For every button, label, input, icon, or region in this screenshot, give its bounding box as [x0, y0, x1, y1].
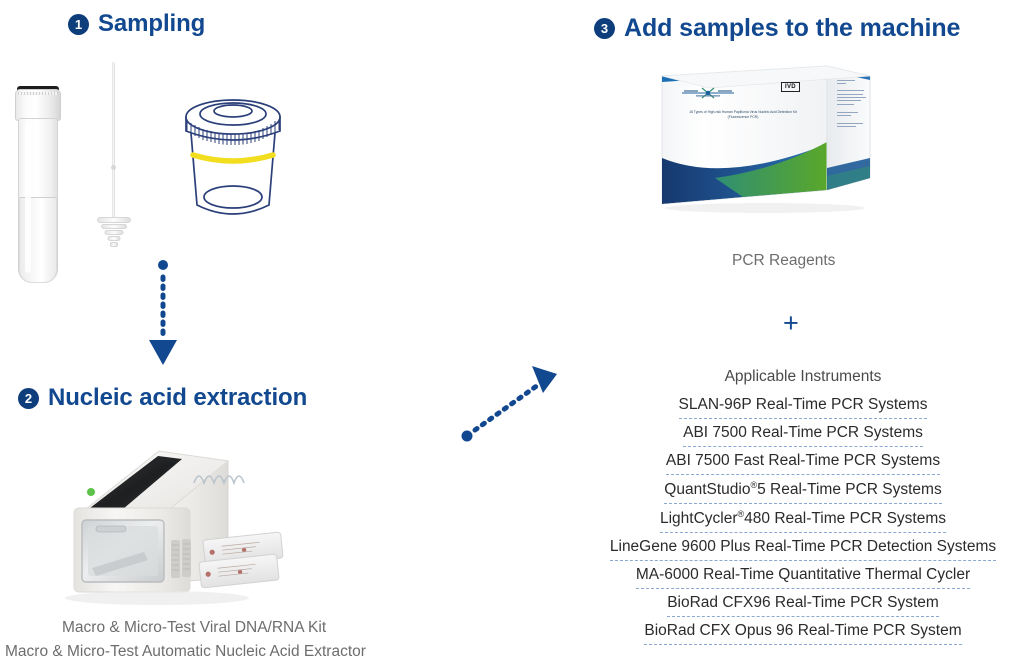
- step-2-title: Nucleic acid extraction: [48, 384, 307, 412]
- instrument-label: LineGene 9600 Plus Real-Time PCR Detecti…: [610, 538, 996, 561]
- step-3-title: Add samples to the machine: [624, 14, 960, 43]
- kit-caption: Macro & Micro-Test Viral DNA/RNA Kit: [62, 619, 326, 637]
- box-side-panel-text: [837, 80, 867, 130]
- plus-icon: +: [783, 310, 799, 337]
- pcr-reagents-caption: PCR Reagents: [732, 252, 835, 270]
- nucleic-acid-extractor-image: [52, 428, 292, 613]
- instrument-row: SLAN-96P Real-Time PCR Systems: [601, 396, 1005, 419]
- instrument-label: BioRad CFX Opus 96 Real-Time PCR System: [644, 622, 961, 645]
- swab-brush-head: [96, 217, 132, 252]
- step-2-heading: 2 Nucleic acid extraction: [18, 384, 307, 412]
- sampling-illustration: [0, 62, 300, 262]
- sampling-swab: [96, 62, 132, 252]
- swab-breakpoint: [111, 165, 116, 170]
- instrument-label: MA-6000 Real-Time Quantitative Thermal C…: [636, 566, 970, 589]
- urine-collection-cup: [178, 87, 288, 232]
- tube-highlight: [25, 123, 31, 273]
- step-1-title: Sampling: [98, 10, 205, 38]
- kit-product-title: 18 Types of High-risk Human Papilloma Vi…: [678, 110, 808, 121]
- swab-shaft: [112, 62, 115, 222]
- instrument-label: ABI 7500 Real-Time PCR Systems: [683, 424, 923, 447]
- step-3-heading: 3 Add samples to the machine: [594, 14, 960, 43]
- instrument-row: LightCycler®480 Real-Time PCR Systems: [601, 509, 1005, 533]
- instrument-label: LightCycler®480 Real-Time PCR Systems: [660, 509, 946, 533]
- arrow-extraction-to-machine: [458, 362, 568, 452]
- tube-cap: [15, 89, 61, 121]
- extractor-caption: Macro & Micro-Test Automatic Nucleic Aci…: [5, 643, 366, 661]
- instrument-label: QuantStudio®5 Real-Time PCR Systems: [664, 480, 941, 504]
- ivd-badge: IVD: [781, 82, 800, 92]
- collection-tube: [14, 89, 62, 289]
- instrument-row: LineGene 9600 Plus Real-Time PCR Detecti…: [601, 538, 1005, 561]
- instrument-row: ABI 7500 Real-Time PCR Systems: [601, 424, 1005, 447]
- instrument-row: MA-6000 Real-Time Quantitative Thermal C…: [601, 566, 1005, 589]
- instrument-row: BioRad CFX Opus 96 Real-Time PCR System: [601, 622, 1005, 645]
- brand-logo-icon: [680, 86, 736, 99]
- instrument-row: QuantStudio®5 Real-Time PCR Systems: [601, 480, 1005, 504]
- arrow-sampling-to-extraction: [140, 258, 186, 373]
- instrument-label: ABI 7500 Fast Real-Time PCR Systems: [666, 452, 940, 475]
- step-1-badge: 1: [68, 14, 89, 35]
- instrument-row: BioRad CFX96 Real-Time PCR System: [601, 594, 1005, 617]
- step-2-badge: 2: [18, 388, 39, 409]
- applicable-instruments-title: Applicable Instruments: [601, 368, 1005, 386]
- pcr-reagent-kit-box: IVD 18 Types of High-risk Human Papillom…: [655, 58, 905, 213]
- applicable-instruments-list: Applicable Instruments SLAN-96P Real-Tim…: [601, 368, 1005, 650]
- instrument-label: BioRad CFX96 Real-Time PCR System: [667, 594, 939, 617]
- instrument-label: SLAN-96P Real-Time PCR Systems: [679, 396, 928, 419]
- step-1-heading: 1 Sampling: [68, 10, 205, 38]
- step-3-badge: 3: [594, 18, 615, 39]
- instrument-row: ABI 7500 Fast Real-Time PCR Systems: [601, 452, 1005, 475]
